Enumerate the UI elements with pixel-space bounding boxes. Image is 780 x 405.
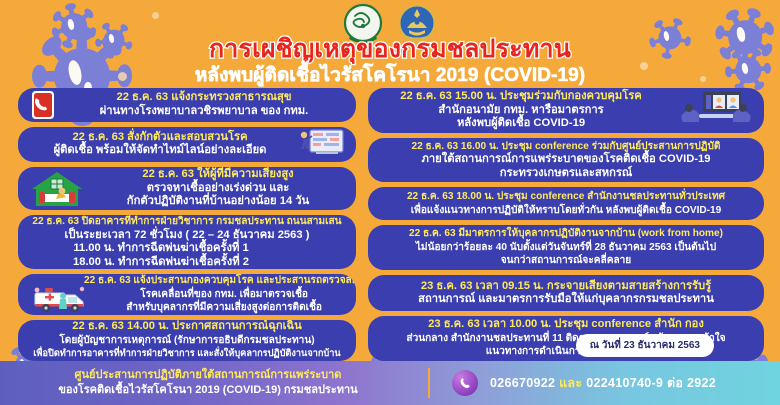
card-text: 22 ธ.ค. 63 ปิดอาคารที่ทำการฝ่ายวิชาการ ก…: [26, 215, 348, 269]
phone-ext-label: ต่อ: [667, 376, 683, 390]
timeline-card: 22 ธ.ค. 63 ให้ผู้ที่มีความเสี่ยงสูง ตรวจ…: [18, 167, 356, 210]
card-text: 22 ธ.ค. 63 ให้ผู้ที่มีความเสี่ยงสูง ตรวจ…: [88, 168, 348, 209]
phone-call-icon: [452, 370, 478, 396]
card-text: 22 ธ.ค. 63 16.00 น. ประชุม conference ร่…: [376, 140, 756, 181]
timeline-card: 22 ธ.ค. 63 แจ้งกระทรวงสาธารณสุข ผ่านทางโ…: [18, 88, 356, 122]
ambulance-icon: [28, 284, 104, 314]
timeline-card: 22 ธ.ค. 63 ปิดอาคารที่ทำการฝ่ายวิชาการ ก…: [18, 215, 356, 269]
page-title: การเผชิญเหตุของกรมชลประทาน: [0, 34, 780, 64]
footer-bar: ศูนย์ประสานการปฏิบัติภายใต้สถานการณ์การแ…: [0, 361, 780, 405]
contact-block: 026670922 และ 022410740-9 ต่อ 2922: [430, 370, 780, 396]
phone-secondary: 022410740-9: [586, 376, 663, 390]
timeline-investigation-board-icon: [294, 127, 348, 161]
poster-header: การเผชิญเหตุของกรมชลประทาน หลังพบผู้ติดเ…: [0, 0, 780, 86]
card-text: 22 ธ.ค. 63 15.00 น. ประชุมร่วมกับกองควบค…: [376, 90, 676, 131]
timeline-card: 23 ธ.ค. 63 เวลา 09.15 น. กระจายเสียงตามส…: [368, 275, 764, 312]
card-text: 22 ธ.ค. 63 18.00 น. ประชุม conference สำ…: [376, 190, 756, 217]
phone-ext: 2922: [687, 376, 716, 390]
phone-conjunction: และ: [559, 376, 582, 390]
timeline-card: 22 ธ.ค. 63 18.00 น. ประชุม conference สำ…: [368, 187, 764, 220]
as-of-date-badge: ณ วันที่ 23 ธันวาคม 2563: [576, 334, 714, 357]
coordination-center-text: ศูนย์ประสานการปฏิบัติภายใต้สถานการณ์การแ…: [0, 368, 430, 398]
red-smartphone-call-icon: [26, 90, 60, 120]
phone-primary: 026670922: [490, 376, 555, 390]
timeline-card: 22 ธ.ค. 63 สั่งกักตัวและสอบสวนโรค ผู้ติด…: [18, 127, 356, 163]
timeline-card: 22 ธ.ค. 63 16.00 น. ประชุม conference ร่…: [368, 138, 764, 183]
right-column: 22 ธ.ค. 63 15.00 น. ประชุมร่วมกับกองควบค…: [362, 86, 780, 361]
title-block: การเผชิญเหตุของกรมชลประทาน หลังพบผู้ติดเ…: [0, 34, 780, 88]
card-text: 23 ธ.ค. 63 เวลา 09.15 น. กระจายเสียงตามส…: [376, 280, 756, 307]
card-text: 22 ธ.ค. 63 14.00 น. ประกาศสถานการณ์ฉุกเฉ…: [26, 320, 348, 361]
card-text: 22 ธ.ค. 63 มีมาตรการให้บุคลากรปฏิบัติงาน…: [376, 227, 756, 268]
content-columns: 22 ธ.ค. 63 แจ้งกระทรวงสาธารณสุข ผ่านทางโ…: [0, 86, 780, 361]
timeline-card: 22 ธ.ค. 63 15.00 น. ประชุมร่วมกับกองควบค…: [368, 88, 764, 133]
left-column: 22 ธ.ค. 63 แจ้งกระทรวงสาธารณสุข ผ่านทางโ…: [0, 86, 362, 361]
page-subtitle: หลังพบผู้ติดเชื้อไวรัสโคโรนา 2019 (COVID…: [0, 64, 780, 88]
card-text: 22 ธ.ค. 63 สั่งกักตัวและสอบสวนโรค ผู้ติด…: [26, 131, 294, 158]
timeline-card: 22 ธ.ค. 63 แจ้งประสานกองควบคุมโรค และประ…: [18, 274, 356, 315]
timeline-card: 22 ธ.ค. 63 มีมาตรการให้บุคลากรปฏิบัติงาน…: [368, 225, 764, 270]
video-conference-icon: [676, 90, 756, 130]
covid-response-infographic: การเผชิญเหตุของกรมชลประทาน หลังพบผู้ติดเ…: [0, 0, 780, 405]
footer-line-2: ของโรคติดเชื้อไวรัสโคโรนา 2019 (COVID-19…: [0, 383, 416, 398]
contact-numbers: 026670922 และ 022410740-9 ต่อ 2922: [490, 373, 716, 393]
green-house-quarantine-icon: [26, 169, 88, 209]
timeline-card: 22 ธ.ค. 63 14.00 น. ประกาศสถานการณ์ฉุกเฉ…: [18, 320, 356, 361]
card-text: 22 ธ.ค. 63 แจ้งกระทรวงสาธารณสุข ผ่านทางโ…: [60, 91, 348, 118]
footer-line-1: ศูนย์ประสานการปฏิบัติภายใต้สถานการณ์การแ…: [0, 368, 416, 383]
